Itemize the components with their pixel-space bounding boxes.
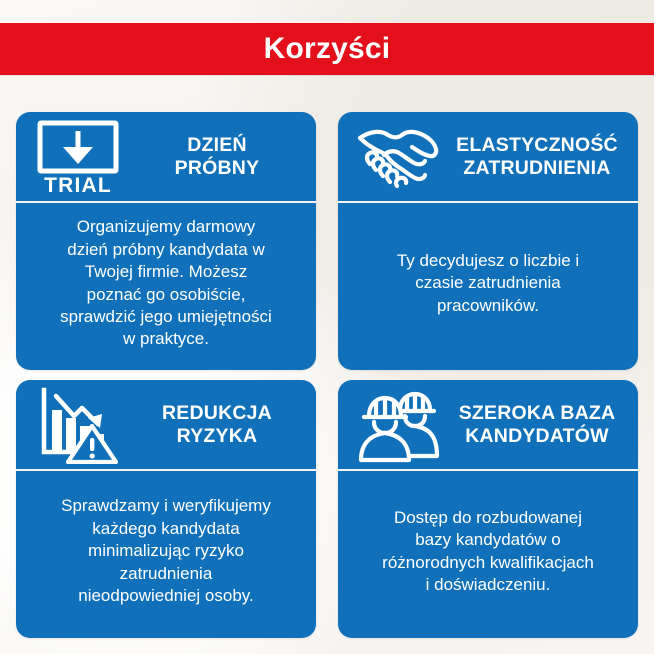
card-title: SZEROKA BAZA KANDYDATÓW bbox=[452, 402, 626, 447]
card-description-line: i doświadczeniu. bbox=[382, 574, 594, 596]
card-title: ELASTYCZNOŚĆ ZATRUDNIENIA bbox=[452, 134, 626, 179]
card-title-line-2: PRÓBNY bbox=[134, 157, 300, 180]
card-title-line-1: DZIEŃ bbox=[134, 134, 300, 157]
benefit-card-redukcja-ryzyka[interactable]: REDUKCJA RYZYKA Sprawdzamy i weryfikujem… bbox=[16, 380, 316, 638]
card-description: Organizujemy darmowy dzień próbny kandyd… bbox=[60, 216, 272, 351]
card-title-line-1: ELASTYCZNOŚĆ bbox=[452, 134, 622, 157]
card-description: Dostęp do rozbudowanej bazy kandydatów o… bbox=[382, 507, 594, 597]
card-body: Ty decydujesz o liczbie i czasie zatrudn… bbox=[338, 203, 638, 370]
card-description-line: Dostęp do rozbudowanej bbox=[382, 507, 594, 529]
card-body: Sprawdzamy i weryfikujemy każdego kandyd… bbox=[16, 471, 316, 638]
benefit-card-elastycznosc-zatrudnienia[interactable]: ELASTYCZNOŚĆ ZATRUDNIENIA Ty decydujesz … bbox=[338, 112, 638, 370]
card-description-line: poznać go osobiście, bbox=[60, 284, 272, 306]
svg-text:TRIAL: TRIAL bbox=[44, 174, 112, 195]
card-title: DZIEŃ PRÓBNY bbox=[134, 134, 304, 179]
card-title: REDUKCJA RYZYKA bbox=[134, 402, 304, 447]
card-description-line: minimalizując ryzyko bbox=[61, 540, 271, 562]
card-description-line: zatrudnienia bbox=[61, 563, 271, 585]
header-banner: Korzyści bbox=[0, 23, 654, 75]
card-title-line-2: ZATRUDNIENIA bbox=[452, 157, 622, 180]
card-description: Sprawdzamy i weryfikujemy każdego kandyd… bbox=[61, 495, 271, 607]
card-description-line: Sprawdzamy i weryfikujemy bbox=[61, 495, 271, 517]
card-description-line: Organizujemy darmowy bbox=[60, 216, 272, 238]
card-header: SZEROKA BAZA KANDYDATÓW bbox=[338, 380, 638, 471]
handshake-icon bbox=[352, 120, 444, 194]
card-body: Organizujemy darmowy dzień próbny kandyd… bbox=[16, 203, 316, 370]
benefits-infographic: Korzyści TRIAL DZIEŃ PRÓBNY bbox=[0, 0, 654, 654]
benefit-card-dzien-probny[interactable]: TRIAL DZIEŃ PRÓBNY Organizujemy darmowy … bbox=[16, 112, 316, 370]
trial-download-icon: TRIAL bbox=[30, 119, 126, 195]
card-description-line: Twojej firmie. Możesz bbox=[60, 261, 272, 283]
card-description-line: pracowników. bbox=[397, 295, 579, 317]
card-title-line-1: SZEROKA BAZA bbox=[452, 402, 622, 425]
card-header: TRIAL DZIEŃ PRÓBNY bbox=[16, 112, 316, 203]
card-description-line: różnorodnych kwalifikacjach bbox=[382, 552, 594, 574]
card-description: Ty decydujesz o liczbie i czasie zatrudn… bbox=[397, 250, 579, 317]
card-title-line-1: REDUKCJA bbox=[134, 402, 300, 425]
declining-chart-warning-icon bbox=[30, 386, 126, 464]
card-description-line: czasie zatrudnienia bbox=[397, 272, 579, 294]
card-body: Dostęp do rozbudowanej bazy kandydatów o… bbox=[338, 471, 638, 638]
card-header: ELASTYCZNOŚĆ ZATRUDNIENIA bbox=[338, 112, 638, 203]
card-title-line-2: RYZYKA bbox=[134, 425, 300, 448]
card-description-line: bazy kandydatów o bbox=[382, 529, 594, 551]
card-description-line: w praktyce. bbox=[60, 328, 272, 350]
benefits-card-grid: TRIAL DZIEŃ PRÓBNY Organizujemy darmowy … bbox=[16, 112, 638, 638]
card-title-line-2: KANDYDATÓW bbox=[452, 425, 622, 448]
card-description-line: sprawdzić jego umiejętności bbox=[60, 306, 272, 328]
benefit-card-szeroka-baza-kandydatow[interactable]: SZEROKA BAZA KANDYDATÓW Dostęp do rozbud… bbox=[338, 380, 638, 638]
card-header: REDUKCJA RYZYKA bbox=[16, 380, 316, 471]
card-description-line: Ty decydujesz o liczbie i bbox=[397, 250, 579, 272]
card-description-line: dzień próbny kandydata w bbox=[60, 239, 272, 261]
card-description-line: nieodpowiedniej osoby. bbox=[61, 585, 271, 607]
workers-hardhat-icon bbox=[352, 386, 444, 464]
page-title: Korzyści bbox=[264, 34, 391, 64]
card-description-line: każdego kandydata bbox=[61, 518, 271, 540]
